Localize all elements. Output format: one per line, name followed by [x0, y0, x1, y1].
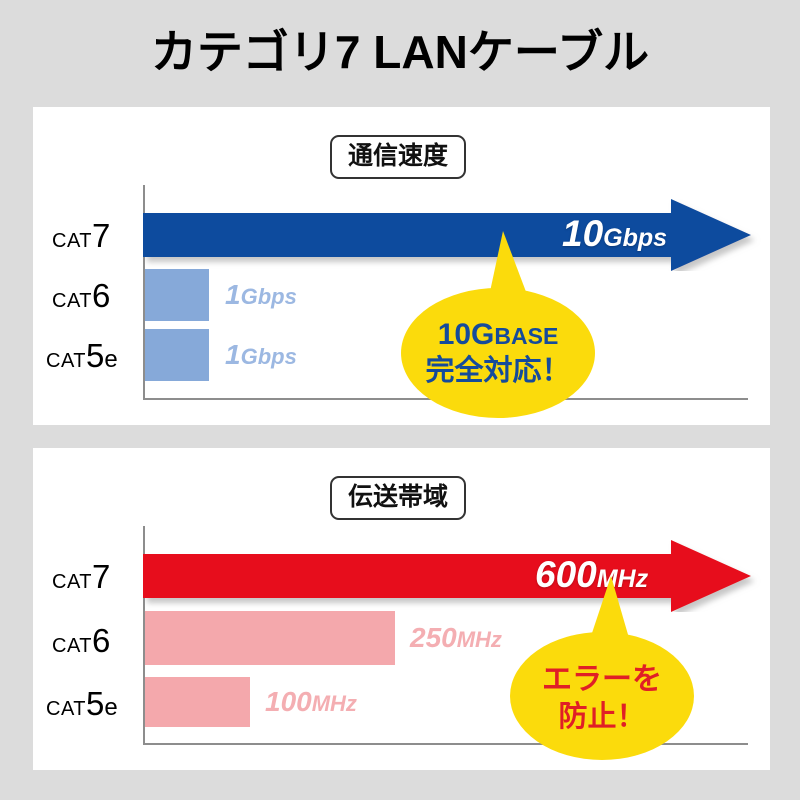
speed-callout-small: BASE — [494, 323, 558, 349]
bandwidth-category-label-cat7: CAT7 — [52, 560, 110, 593]
speed-chart-title-pill: 通信速度 — [330, 135, 466, 179]
cat-word: CAT — [46, 698, 86, 720]
speed-value-cat6-number: 1 — [225, 279, 241, 310]
cat-suffix: e — [104, 346, 117, 373]
speed-callout-line1: 10GBASE — [398, 319, 598, 351]
cat-word: CAT — [46, 350, 86, 372]
cat-number: 7 — [92, 217, 110, 254]
bandwidth-category-label-cat5e: CAT5e — [46, 687, 118, 720]
page-title: カテゴリ7 LANケーブル — [0, 22, 800, 82]
bandwidth-callout-line1: エラーを — [507, 664, 697, 696]
speed-callout-bubble: 10GBASE 完全対応！ — [398, 231, 598, 421]
cat-number: 5 — [86, 337, 104, 374]
bandwidth-value-cat5e-number: 100 — [265, 686, 312, 717]
bandwidth-value-cat6: 250MHz — [410, 624, 502, 652]
bandwidth-callout-bubble: エラーを 防止！ — [507, 576, 697, 762]
speed-bar-cat5e — [145, 329, 209, 381]
bandwidth-callout-line2: 防止！ — [507, 702, 697, 733]
infographic-root: カテゴリ7 LANケーブル 通信速度 10Gbps 1Gbps — [0, 0, 800, 800]
cat-number: 6 — [92, 622, 110, 659]
speed-value-cat6-unit: Gbps — [241, 284, 297, 309]
speed-value-cat6: 1Gbps — [225, 281, 297, 309]
speed-category-label-cat7: CAT7 — [52, 219, 110, 252]
speed-category-label-cat5e: CAT5e — [46, 339, 118, 372]
speed-value-cat5e-number: 1 — [225, 339, 241, 370]
bandwidth-bar-cat5e — [145, 677, 250, 727]
speed-value-cat5e-unit: Gbps — [241, 344, 297, 369]
speed-value-cat7-unit: Gbps — [603, 224, 667, 252]
speed-value-cat5e: 1Gbps — [225, 341, 297, 369]
cat-number: 6 — [92, 277, 110, 314]
speed-callout-line2: 完全対応！ — [398, 356, 598, 387]
bandwidth-chart-card: 伝送帯域 600MHz 250MHz 100MHz — [33, 448, 770, 770]
speed-chart-card: 通信速度 10Gbps 1Gbps 1Gbps — [33, 107, 770, 425]
cat-number: 7 — [92, 558, 110, 595]
bandwidth-value-cat5e: 100MHz — [265, 688, 357, 716]
bandwidth-bar-cat6 — [145, 611, 395, 665]
bandwidth-category-label-cat6: CAT6 — [52, 624, 110, 657]
speed-callout-big: 10G — [438, 318, 495, 351]
cat-word: CAT — [52, 635, 92, 657]
speed-category-label-cat6: CAT6 — [52, 279, 110, 312]
cat-number: 5 — [86, 685, 104, 722]
bandwidth-value-cat6-unit: MHz — [457, 627, 502, 652]
cat-word: CAT — [52, 571, 92, 593]
cat-suffix: e — [104, 694, 117, 721]
cat-word: CAT — [52, 230, 92, 252]
bandwidth-value-cat5e-unit: MHz — [312, 691, 357, 716]
bandwidth-value-cat6-number: 250 — [410, 622, 457, 653]
bandwidth-chart-title-pill: 伝送帯域 — [330, 476, 466, 520]
cat-word: CAT — [52, 290, 92, 312]
speed-bar-cat6 — [145, 269, 209, 321]
